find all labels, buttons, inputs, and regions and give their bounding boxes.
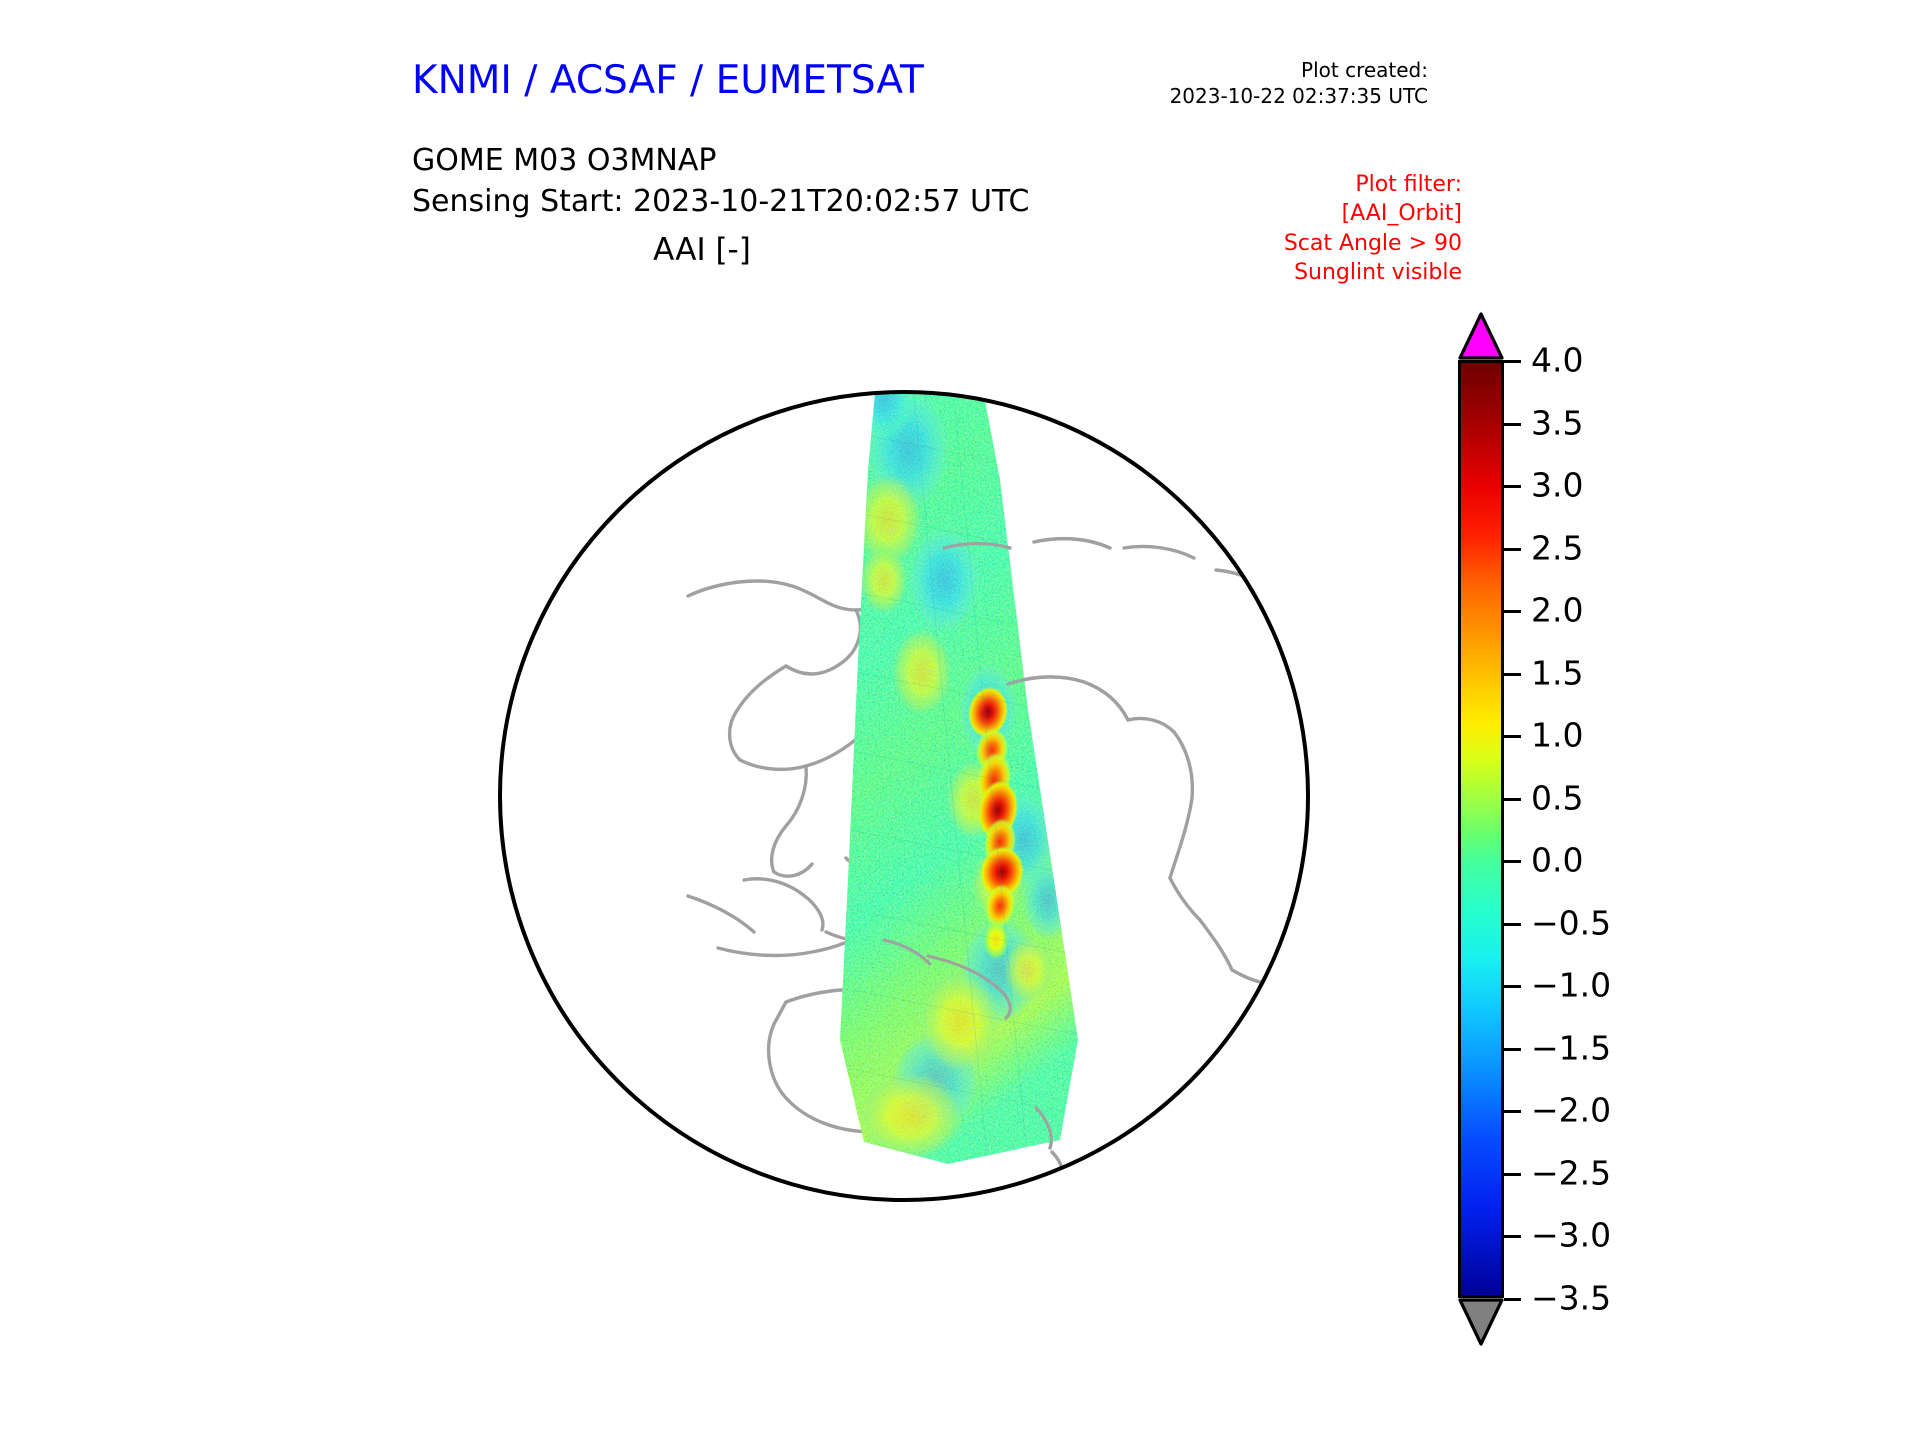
colorbar-tick-label: −2.5 — [1531, 1153, 1611, 1192]
plot-created-timestamp: 2023-10-22 02:37:35 UTC — [1170, 84, 1428, 110]
colorbar-tick — [1504, 923, 1521, 926]
plot-filter-orbit: [AAI_Orbit] — [1284, 199, 1462, 228]
colorbar-tick — [1504, 1110, 1521, 1113]
colorbar-tick — [1504, 985, 1521, 988]
colorbar-tick-label: 2.0 — [1531, 591, 1583, 630]
colorbar-tick — [1504, 860, 1521, 863]
colorbar-tick — [1504, 548, 1521, 551]
plot-filter-scat-angle: Scat Angle > 90 — [1284, 229, 1462, 258]
colorbar-tick — [1504, 423, 1521, 426]
sensing-start: Sensing Start: 2023-10-21T20:02:57 UTC — [412, 181, 1029, 222]
colorbar-tick — [1504, 673, 1521, 676]
colorbar-tick — [1504, 1173, 1521, 1176]
colorbar-tick-label: 0.0 — [1531, 841, 1583, 880]
colorbar-tick-label: 1.0 — [1531, 716, 1583, 755]
product-name: GOME M03 O3MNAP — [412, 140, 1029, 181]
colorbar-tick-label: 0.5 — [1531, 778, 1583, 817]
product-info-block: GOME M03 O3MNAP Sensing Start: 2023-10-2… — [412, 140, 1029, 223]
colorbar-tick-label: −1.5 — [1531, 1028, 1611, 1067]
colorbar-tick-label: −1.0 — [1531, 966, 1611, 1005]
colorbar-tick — [1504, 360, 1521, 363]
plot-created-block: Plot created: 2023-10-22 02:37:35 UTC — [1170, 58, 1428, 109]
colorbar-tick-label: 3.0 — [1531, 466, 1583, 505]
organization-title: KNMI / ACSAF / EUMETSAT — [412, 58, 924, 103]
variable-title: AAI [-] — [412, 232, 992, 268]
colorbar-under-range-arrow — [1458, 1298, 1504, 1346]
colorbar-tick — [1504, 610, 1521, 613]
colorbar-gradient — [1458, 360, 1504, 1298]
colorbar-tick — [1504, 798, 1521, 801]
colorbar-tick-label: −2.0 — [1531, 1091, 1611, 1130]
colorbar-tick — [1504, 1048, 1521, 1051]
colorbar-tick — [1504, 1298, 1521, 1301]
colorbar-tick — [1504, 1235, 1521, 1238]
colorbar-tick-label: −3.5 — [1531, 1279, 1611, 1318]
colorbar-tick-label: 1.5 — [1531, 653, 1583, 692]
colorbar-tick-label: 4.0 — [1531, 341, 1583, 380]
plot-created-label: Plot created: — [1170, 58, 1428, 84]
colorbar-tick — [1504, 735, 1521, 738]
plot-filter-label: Plot filter: — [1284, 170, 1462, 199]
map-area — [388, 280, 1420, 1312]
colorbar-tick-label: 3.5 — [1531, 403, 1583, 442]
plot-filter-block: Plot filter: [AAI_Orbit] Scat Angle > 90… — [1284, 170, 1462, 287]
colorbar-tick — [1504, 485, 1521, 488]
colorbar-tick-label: −3.0 — [1531, 1216, 1611, 1255]
globe-orthographic-map — [388, 280, 1420, 1312]
colorbar: 4.03.53.02.52.01.51.00.50.0−0.5−1.0−1.5−… — [1445, 286, 1695, 1316]
colorbar-over-range-arrow — [1458, 312, 1504, 360]
colorbar-tick-label: −0.5 — [1531, 903, 1611, 942]
colorbar-tick-label: 2.5 — [1531, 528, 1583, 567]
